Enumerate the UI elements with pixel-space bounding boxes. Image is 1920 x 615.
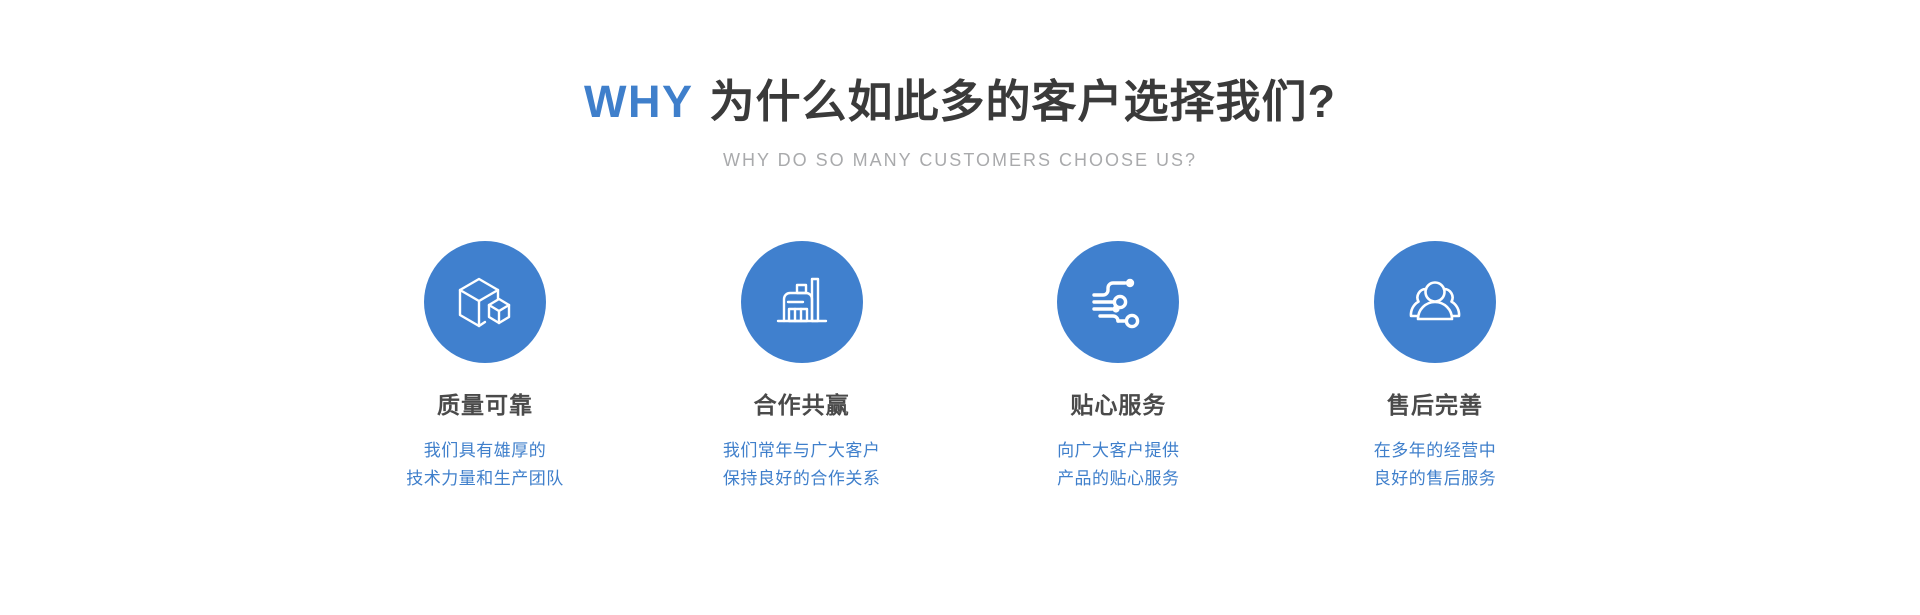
page-title: WHY为什么如此多的客户选择我们? — [0, 78, 1920, 125]
feature-title: 质量可靠 — [437, 392, 533, 420]
feature-description-line: 向广大客户提供 — [1057, 437, 1180, 465]
feature-description: 我们具有雄厚的 技术力量和生产团队 — [406, 437, 564, 493]
feature-item-after-sales[interactable]: 售后完善 在多年的经营中 良好的售后服务 — [1310, 241, 1560, 493]
package-box-icon — [454, 271, 516, 333]
title-chinese-text: 为什么如此多的客户选择我们? — [710, 76, 1337, 127]
feature-item-service[interactable]: 贴心服务 向广大客户提供 产品的贴心服务 — [993, 241, 1243, 493]
feature-description: 在多年的经营中 良好的售后服务 — [1374, 437, 1497, 493]
feature-item-quality[interactable]: 质量可靠 我们具有雄厚的 技术力量和生产团队 — [360, 241, 610, 493]
users-group-icon — [1404, 271, 1466, 333]
feature-description-line: 我们常年与广大客户 — [723, 437, 881, 465]
feature-description: 我们常年与广大客户 保持良好的合作关系 — [723, 437, 881, 493]
heading-block: WHY为什么如此多的客户选择我们? WHY DO SO MANY CUSTOME… — [0, 78, 1920, 171]
feature-icon-circle — [1374, 241, 1496, 363]
feature-title: 合作共赢 — [754, 392, 850, 420]
feature-list: 质量可靠 我们具有雄厚的 技术力量和生产团队 — [360, 241, 1560, 493]
factory-icon — [771, 271, 833, 333]
feature-icon-circle — [741, 241, 863, 363]
feature-title: 贴心服务 — [1070, 392, 1166, 420]
feature-description-line: 技术力量和生产团队 — [406, 465, 564, 493]
feature-description-line: 我们具有雄厚的 — [406, 437, 564, 465]
circuit-network-icon — [1087, 271, 1149, 333]
feature-description: 向广大客户提供 产品的贴心服务 — [1057, 437, 1180, 493]
why-choose-us-section: WHY为什么如此多的客户选择我们? WHY DO SO MANY CUSTOME… — [0, 0, 1920, 615]
feature-icon-circle — [424, 241, 546, 363]
title-why-word: WHY — [584, 76, 694, 127]
feature-description-line: 在多年的经营中 — [1374, 437, 1497, 465]
feature-description-line: 良好的售后服务 — [1374, 465, 1497, 493]
feature-item-cooperation[interactable]: 合作共赢 我们常年与广大客户 保持良好的合作关系 — [677, 241, 927, 493]
page-subtitle: WHY DO SO MANY CUSTOMERS CHOOSE US? — [0, 150, 1920, 171]
feature-description-line: 保持良好的合作关系 — [723, 465, 881, 493]
feature-description-line: 产品的贴心服务 — [1057, 465, 1180, 493]
feature-title: 售后完善 — [1387, 392, 1483, 420]
feature-icon-circle — [1057, 241, 1179, 363]
